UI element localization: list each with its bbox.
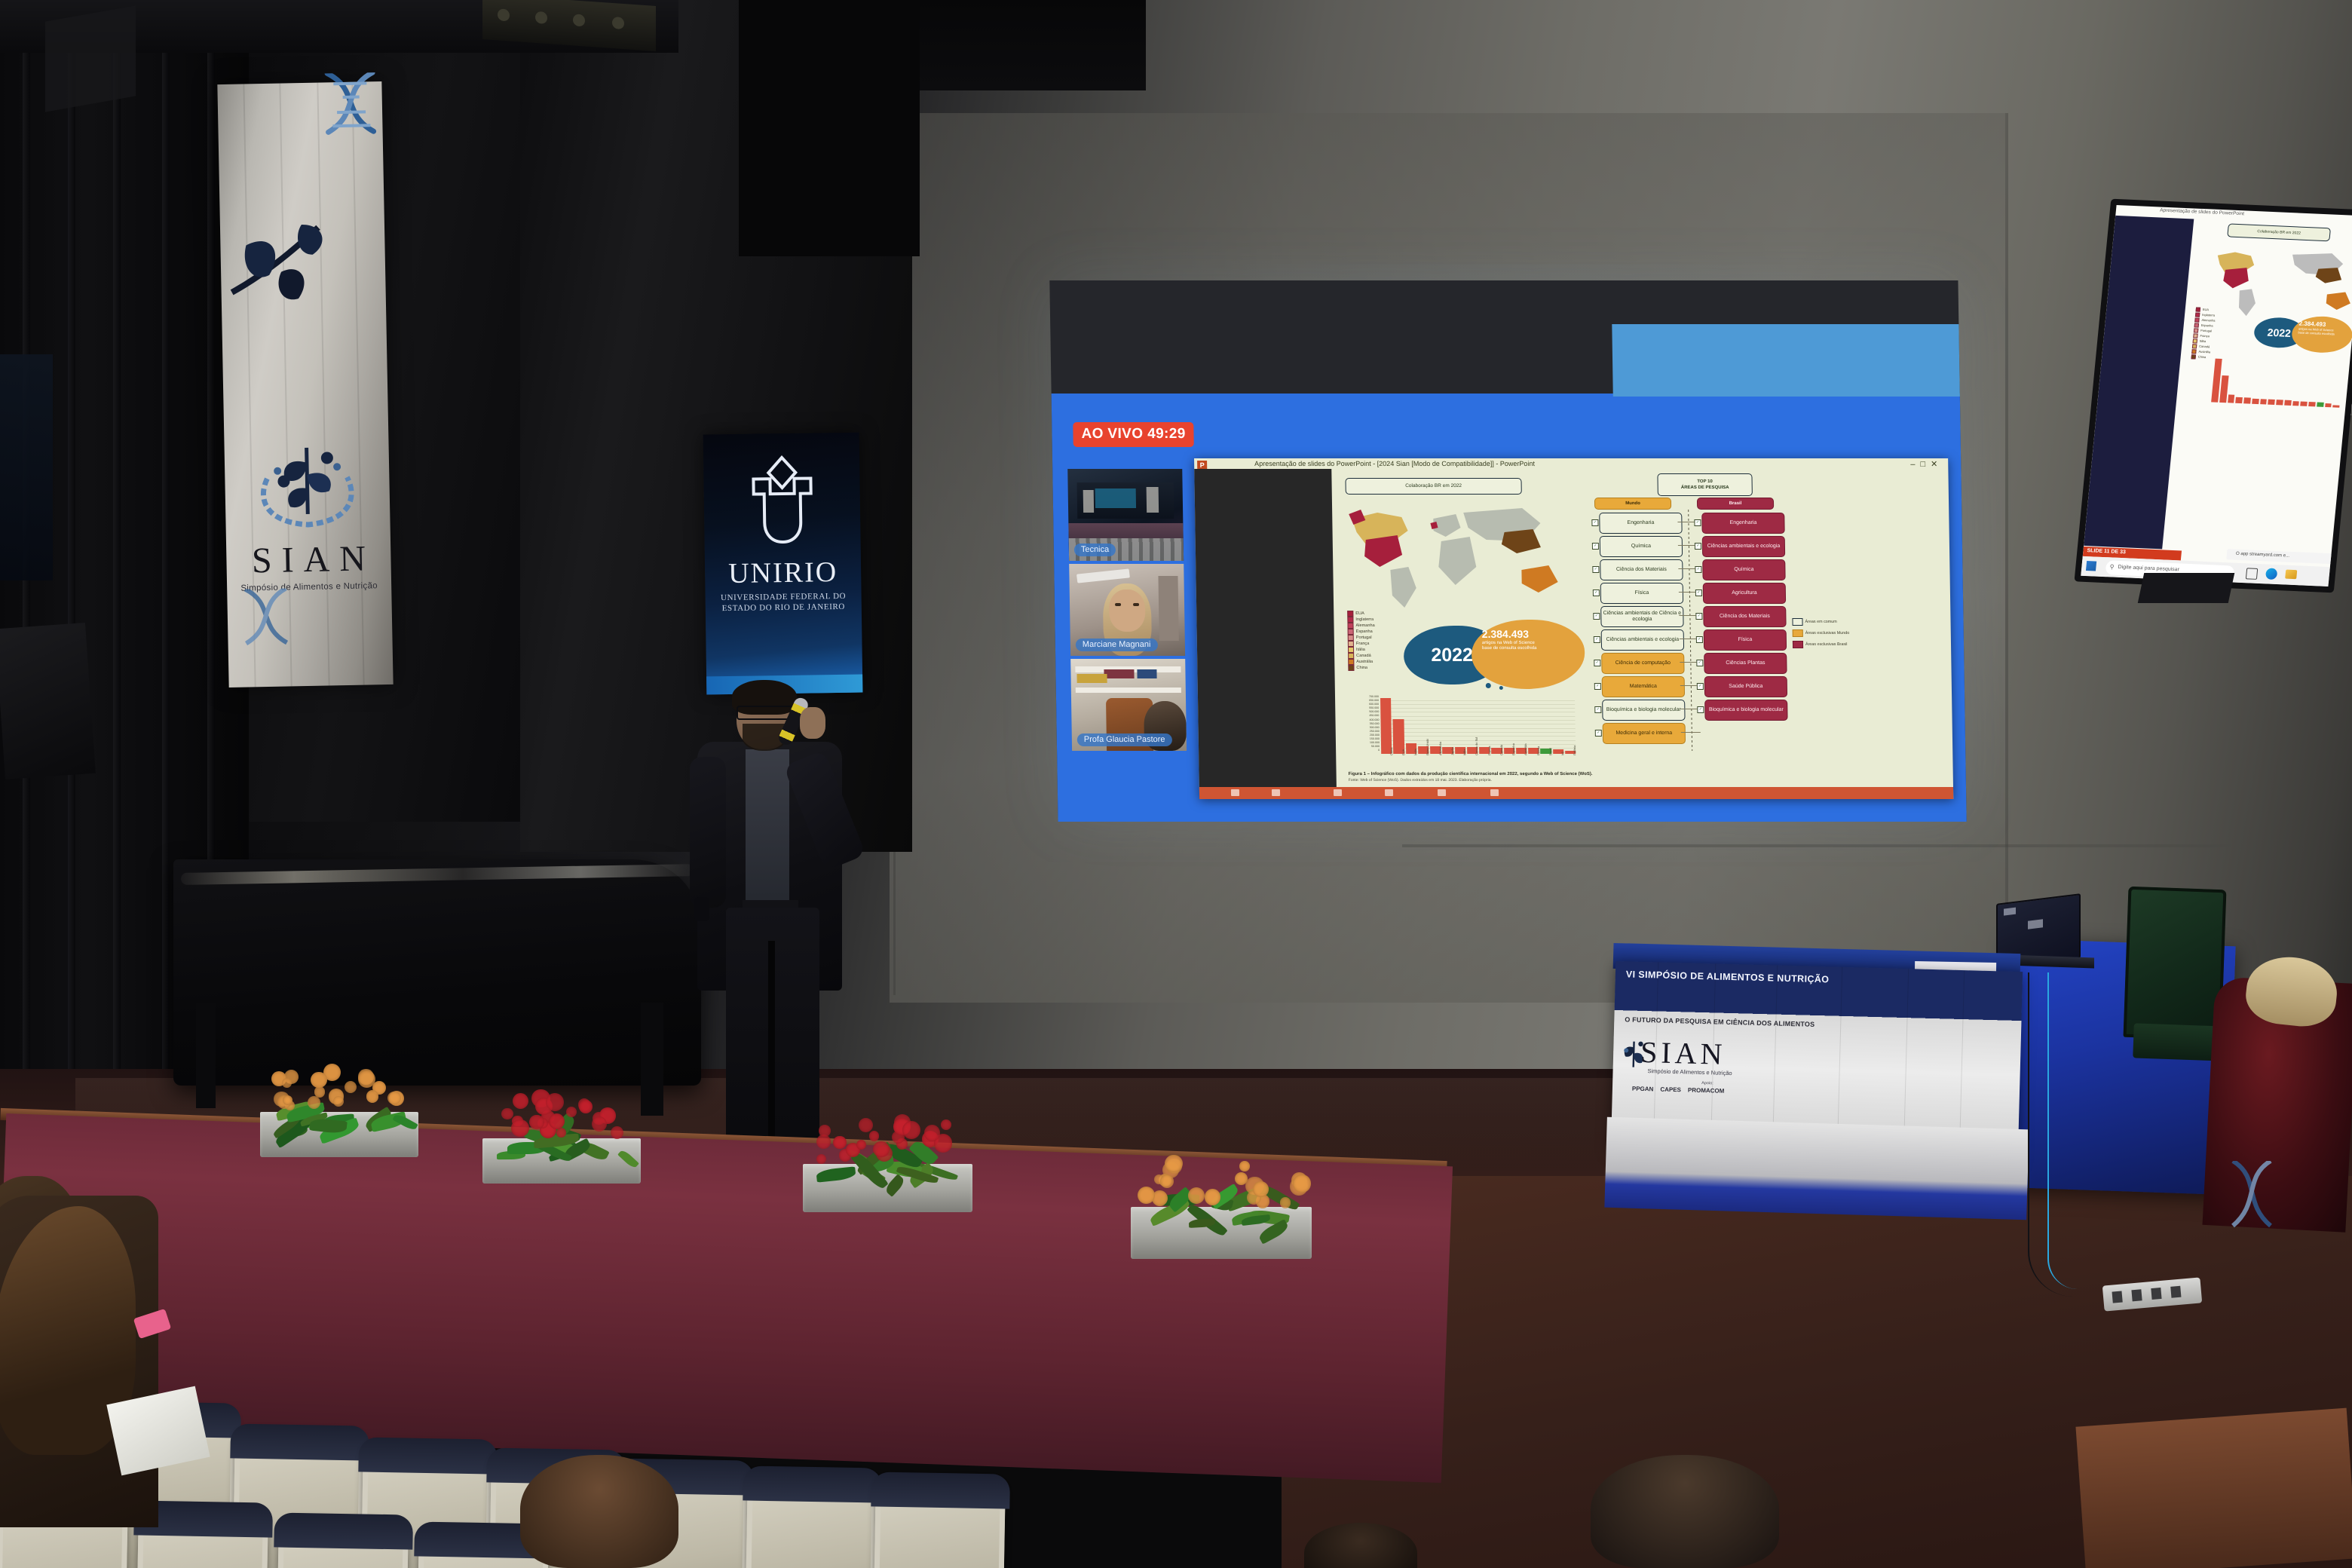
chart-x-tick-label: Irã (1560, 752, 1564, 755)
flower-bloom (345, 1081, 357, 1094)
sponsor-capes: CAPES (1660, 1086, 1681, 1094)
grand-piano (173, 859, 701, 1086)
flower-bloom (311, 1072, 327, 1089)
presenter-toolbar[interactable] (1199, 787, 1953, 799)
checkbox-icon: ✓ (1695, 543, 1701, 550)
edge-icon[interactable] (2265, 568, 2277, 580)
flower-bloom (819, 1125, 831, 1137)
auditorium-scene: SIAN Simpósio de Alimentos e Nutrição UN… (0, 0, 2352, 1568)
ceiling-duct (45, 5, 136, 112)
window-controls[interactable]: –□✕ (1910, 459, 1943, 469)
flower-bloom (333, 1096, 344, 1107)
chart-bar (2276, 400, 2283, 405)
tree-column-world: Mundo (1594, 498, 1671, 510)
unirio-trident-icon (703, 433, 861, 555)
tree-node: Ciências ambientais e ecologia (1702, 536, 1785, 557)
monitor-map-legend: EUA Inglaterra Alemanha Espanha Portugal… (2191, 307, 2216, 360)
stat-bubble: 2.384.493 artigos na Web of Science base… (1471, 620, 1585, 689)
monitor-stand (2138, 573, 2235, 603)
checkbox-icon: ✓ (1591, 519, 1598, 526)
search-icon: ⚲ (2109, 563, 2115, 570)
chart-bar (2228, 394, 2235, 403)
table-skirt (1604, 1117, 2029, 1220)
power-cable (2028, 972, 2082, 1297)
flower-bloom (1188, 1187, 1205, 1204)
tree-node: Ciência dos Materiais (1600, 559, 1683, 580)
audience-head (1591, 1455, 1779, 1568)
chart-bar (2325, 403, 2332, 407)
sponsor-promacom: PROMACOM (1688, 1087, 1725, 1095)
chart-x-tick-label: EUA (1401, 749, 1405, 755)
checkbox-icon: ✓ (1695, 590, 1702, 596)
flower-bloom (902, 1121, 920, 1139)
chart-bar (2292, 401, 2299, 406)
unirio-banner: UNIRIO UNIVERSIDADE FEDERAL DO ESTADO DO… (703, 433, 863, 695)
chart-bar (2235, 397, 2243, 403)
chart-bar (2252, 398, 2259, 404)
secondary-monitor[interactable]: Apresentação de slides do PowerPoint Col… (2074, 199, 2352, 593)
flower-bloom (869, 1131, 880, 1141)
chart-x-tick-label: Itália (1462, 749, 1466, 755)
checkbox-icon: ✓ (1695, 566, 1701, 573)
dna-helix-icon (234, 588, 296, 672)
sian-brand-label: SIAN (1640, 1034, 1727, 1072)
chart-x-tick-label: Índia (1413, 749, 1417, 755)
tree-column-brazil: Brasil (1697, 498, 1774, 510)
checkbox-icon: ✓ (1696, 660, 1703, 666)
chart-x-tick-label: Brasil (1548, 748, 1552, 755)
checkbox-icon: ✓ (1594, 660, 1600, 666)
chart-bar (1380, 698, 1392, 754)
checkbox-icon: ✓ (1593, 590, 1600, 596)
flower-bloom (859, 1118, 874, 1133)
tree-node: Agricultura (1703, 583, 1786, 604)
flower-bloom (366, 1090, 379, 1103)
dna-helix-icon (314, 72, 387, 164)
chart-bar (2260, 399, 2267, 405)
aisle-step (2075, 1408, 2352, 1568)
auditorium-seat[interactable] (873, 1476, 1006, 1568)
chart-x-tick-label: Rússia (1536, 746, 1540, 755)
tree-node: Medicina geral e interna (1603, 723, 1686, 744)
monitor-titlebar: Apresentação de slides do PowerPoint (2160, 208, 2244, 217)
flower-bloom (1235, 1172, 1248, 1185)
monitor-bezel: Apresentação de slides do PowerPoint Col… (2074, 199, 2352, 593)
tree-legend: Áreas em comum Áreas exclusivas Mundo Ár… (1792, 618, 1849, 648)
checkbox-icon: ✓ (1594, 636, 1600, 643)
speaker-hand (800, 707, 825, 739)
flower-bloom (282, 1078, 292, 1088)
map-legend: EUA Inglaterra Alemanha Espanha Portugal… (1347, 611, 1375, 671)
speaker-leg-gap (768, 941, 775, 1144)
chart-x-tick-label: Canadá (1499, 745, 1503, 755)
flower-bloom (592, 1116, 607, 1132)
sian-banner-word: SIAN (226, 537, 391, 582)
flower-bloom (546, 1093, 564, 1111)
chart-x-tick-label: Espanha (1511, 743, 1515, 755)
auditorium-seat[interactable] (276, 1517, 409, 1568)
chart-x-tick-label: Alemanha (1438, 742, 1442, 755)
chart-bar (2243, 397, 2251, 403)
dna-helix-icon (2224, 1161, 2277, 1263)
tree-node: Engenharia (1599, 513, 1682, 534)
checkbox-icon: ✓ (1592, 566, 1599, 573)
chart-bar (2268, 400, 2274, 405)
flower-bloom (816, 1135, 831, 1149)
sian-logo: SIAN Simpósio de Alimentos e Nutrição (224, 436, 391, 593)
flower-bloom (1253, 1181, 1269, 1197)
stage-shadow-panel (739, 0, 920, 256)
flower-bloom (566, 1107, 577, 1117)
flower-bloom (856, 1140, 866, 1150)
flower-bloom (1205, 1189, 1221, 1205)
tree-node: Bioquímica e biologia molecular (1704, 700, 1787, 721)
shared-screen-window[interactable]: P Apresentação de slides do PowerPoint -… (1194, 458, 1953, 799)
flower-planter (1131, 1146, 1312, 1259)
live-status-badge: AO VIVO 49:29 (1073, 422, 1194, 447)
tree-node: Química (1702, 559, 1785, 580)
chart-bar (2308, 402, 2315, 406)
flower-bloom (1293, 1174, 1310, 1192)
checkbox-icon: ✓ (1697, 706, 1704, 713)
checkbox-icon: ✓ (1697, 683, 1704, 690)
participant-thumbnail[interactable]: Marciane Magnani (1069, 564, 1185, 656)
piano-leg (641, 1003, 663, 1116)
flower-bloom (513, 1093, 528, 1109)
speaker-left-arm (690, 757, 726, 908)
tree-node: Física (1704, 629, 1787, 651)
chart-y-axis: 700.000650.000600.000550.000500.000450.0… (1350, 695, 1380, 752)
task-view-icon[interactable] (2246, 568, 2258, 580)
chart-bar (2284, 400, 2291, 406)
event-theme-label: O FUTURO DA PESQUISA EM CIÊNCIA DOS ALIM… (1625, 1015, 1815, 1028)
monitor-screen[interactable]: Apresentação de slides do PowerPoint Col… (2081, 205, 2352, 586)
browser-url-hint[interactable]: O app streamyard.com e... (2226, 549, 2332, 564)
sian-vertical-banner: SIAN Simpósio de Alimentos e Nutrição (217, 81, 393, 688)
event-title-label: VI SIMPÓSIO DE ALIMENTOS E NUTRIÇÃO (1626, 969, 1830, 985)
figure-caption: Figura 1 – Infográfico com dados da prod… (1349, 772, 1593, 776)
tree-node: Ciência de computação (1601, 653, 1684, 674)
participant-name-label: Tecnica (1074, 544, 1116, 556)
tree-node: Ciência dos Materiais (1703, 606, 1786, 627)
tree-node: Química (1600, 536, 1683, 557)
chart-x-tick-label: França (1487, 746, 1491, 755)
figure-source: Fonte: Web of Science (WoS). Dados extra… (1349, 778, 1492, 782)
sponsor-logos: PPGAN CAPES PROMACOM (1632, 1086, 1725, 1095)
checkbox-icon: ✓ (1592, 543, 1599, 550)
sian-plant-emblem-icon (251, 436, 363, 532)
flower-bloom (314, 1086, 325, 1097)
flower-bloom (579, 1100, 593, 1113)
flower-bloom (529, 1115, 544, 1129)
chart-x-tick-label: Austrália (1524, 743, 1527, 755)
participant-thumbnail[interactable]: Tecnica (1067, 469, 1184, 561)
checkbox-icon: ✓ (1593, 613, 1600, 620)
monitor-bar-chart (2197, 357, 2345, 417)
flower-bloom (1239, 1161, 1249, 1171)
tree-node: Ciências ambientais de Ciência e ecologi… (1600, 606, 1683, 627)
chart-x-tick-label: Japão (1450, 747, 1454, 755)
chart-bar (2332, 405, 2339, 408)
flower-bloom (816, 1154, 826, 1164)
auditorium-seat[interactable] (745, 1470, 877, 1568)
chart-y-tick-label: 0 (1351, 749, 1380, 752)
unirio-word: UNIRIO (705, 556, 862, 591)
presenter-speaker (690, 684, 848, 1167)
flower-bloom (924, 1125, 941, 1141)
slide-canvas: Colaboração BR em 2022 (1334, 470, 1952, 787)
checkbox-icon: ✓ (1696, 636, 1703, 643)
tree-connector (1681, 732, 1701, 733)
participant-thumbnail[interactable]: Profa Glaucia Pastore (1070, 659, 1187, 751)
tree-header: TOP 10 ÁREAS DE PESQUISA (1657, 473, 1752, 496)
tree-node: Física (1600, 583, 1683, 604)
chart-x-tick-label: China (1389, 748, 1393, 755)
checkbox-icon: ✓ (1595, 730, 1602, 737)
explorer-icon[interactable] (2285, 570, 2297, 580)
participant-name-label: Marciane Magnani (1076, 639, 1158, 651)
presentation-clicker-icon (694, 897, 709, 921)
flower-planter (482, 1086, 641, 1184)
side-screen (0, 354, 53, 580)
flower-bloom (358, 1070, 375, 1088)
checkbox-icon: ✓ (1594, 683, 1601, 690)
monitor-slide-content: Colaboração BR em 2022 EUA Inglaterra Al… (2178, 222, 2352, 455)
chart-x-tick-label: Reino Unido (1426, 739, 1429, 755)
piano-leg (196, 1003, 216, 1108)
checkbox-icon: ✓ (1695, 613, 1702, 620)
checkbox-icon: ✓ (1594, 706, 1601, 713)
speaker-shirt (746, 749, 789, 905)
tree-node: Bioquímica e biologia molecular (1602, 700, 1685, 721)
unirio-line2: ESTADO DO RIO DE JANEIRO (706, 602, 862, 614)
sponsor-ppgan: PPGAN (1632, 1086, 1654, 1093)
green-leather-chair (2124, 887, 2227, 1040)
tree-node: Ciências ambientais e ecologia (1601, 629, 1684, 651)
tree-node: Matemática (1602, 676, 1685, 697)
flower-bloom (511, 1119, 529, 1138)
map-header: Colaboração BR em 2022 (1345, 478, 1521, 495)
chart-bar (2300, 401, 2307, 406)
flower-bloom (1138, 1187, 1155, 1204)
main-projection-screen: Desenvolvido por S StreamYard AO VIVO 49… (1049, 280, 1966, 822)
checkbox-icon: ✓ (1694, 519, 1701, 526)
flower-bloom (387, 1092, 400, 1104)
wall-seam (1402, 844, 2231, 847)
presenter-black-panel (1194, 469, 1337, 799)
chart-x-tick-label: Polônia (1573, 746, 1576, 755)
sian-brand-sub: Simpósio de Alimentos e Nutrição (1647, 1067, 1732, 1076)
monitor-chart-bars (2211, 357, 2344, 408)
flower-bloom (833, 1136, 846, 1149)
wall-seam (2005, 113, 2008, 1003)
flower-bloom (1160, 1174, 1174, 1188)
tree-node: Ciências Plantas (1704, 653, 1787, 674)
flower-planter (260, 1059, 418, 1157)
flower-bloom (1165, 1155, 1183, 1173)
tree-node: Saúde Pública (1704, 676, 1787, 697)
world-map (1343, 498, 1570, 612)
flower-bloom (501, 1108, 513, 1119)
audience-head (520, 1455, 678, 1568)
support-label: Apoio: (1701, 1081, 1713, 1086)
streamyard-branding-bar: Desenvolvido por S StreamYard (1612, 324, 1960, 397)
country-bar-chart: 700.000650.000600.000550.000500.000450.0… (1350, 697, 1577, 763)
tree-node: Engenharia (1701, 513, 1784, 534)
flower-bloom (941, 1119, 951, 1130)
windows-start-icon[interactable] (2086, 561, 2096, 571)
chart-bar (2317, 403, 2323, 407)
participant-name-label: Profa Glaucia Pastore (1077, 733, 1172, 746)
chart-x-tick-label: Coreia do Sul (1475, 737, 1478, 755)
flower-bloom (611, 1126, 623, 1139)
stage-monitor-speaker (0, 623, 96, 779)
leaf-branch-icon (227, 201, 373, 347)
flower-planter (803, 1107, 972, 1212)
window-titlebar: Apresentação de slides do PowerPoint - [… (1254, 460, 1943, 467)
